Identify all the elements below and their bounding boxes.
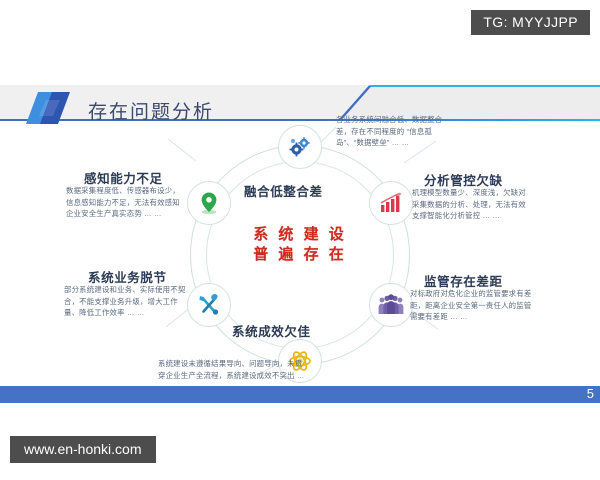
slide-canvas: TG: MYYJJPP 存在问题分析 [0, 0, 600, 480]
section-body-top-left: 数据采集程度低、传感器布设少，信息感知能力不足，无法有效感知企业安全生产真实态势… [66, 185, 186, 220]
slide-logo-icon [26, 90, 78, 126]
page-number: 5 [587, 385, 594, 403]
people-group-icon [378, 294, 404, 316]
center-slogan: 系 统 建 设 普 遍 存 在 [181, 225, 419, 265]
node-top-right[interactable] [369, 181, 413, 225]
location-pin-icon [198, 191, 220, 215]
site-watermark: www.en-honki.com [10, 436, 156, 463]
bar-chart-trend-icon [379, 192, 403, 214]
node-bottom-right[interactable] [369, 283, 413, 327]
section-body-top-right: 机理模型数量少、深度浅，欠缺对采集数据的分析、处理，无法有效支撑智能化分析管控 … [412, 187, 530, 222]
section-body-top: 各业务系统间融合低、数据整合差，存在不同程度的 “信息孤岛”、“数据壁垒” … … [336, 114, 454, 149]
section-body-bottom-left: 部分系统建设和业务、实际使用不契合，不能支撑业务升级，增大工作量、降低工作效率 … [64, 284, 186, 319]
section-heading-top: 融合低整合差 [244, 181, 323, 200]
ring-diagram: 系 统 建 设 普 遍 存 在 [181, 131, 419, 381]
telegram-watermark: TG: MYYJJPP [471, 10, 590, 35]
node-top[interactable] [278, 125, 322, 169]
gears-icon [288, 135, 312, 159]
section-body-bottom-right: 对标政府对危化企业的监管要求有差距，距离企业安全第一责任人的监管需要有差距 … … [410, 288, 534, 323]
section-heading-bottom: 系统成效欠佳 [232, 321, 311, 340]
presentation-page: 存在问题分析 系 统 建 设 普 遍 存 在 [0, 75, 600, 400]
center-slogan-line2: 普 遍 存 在 [181, 245, 419, 265]
center-slogan-line1: 系 统 建 设 [181, 225, 419, 245]
node-top-left[interactable] [187, 181, 231, 225]
title-band: 存在问题分析 [0, 85, 600, 121]
slide-footer-bar [0, 386, 600, 403]
page-title: 存在问题分析 [88, 97, 214, 124]
tools-icon [197, 293, 221, 317]
node-bottom-left[interactable] [187, 283, 231, 327]
